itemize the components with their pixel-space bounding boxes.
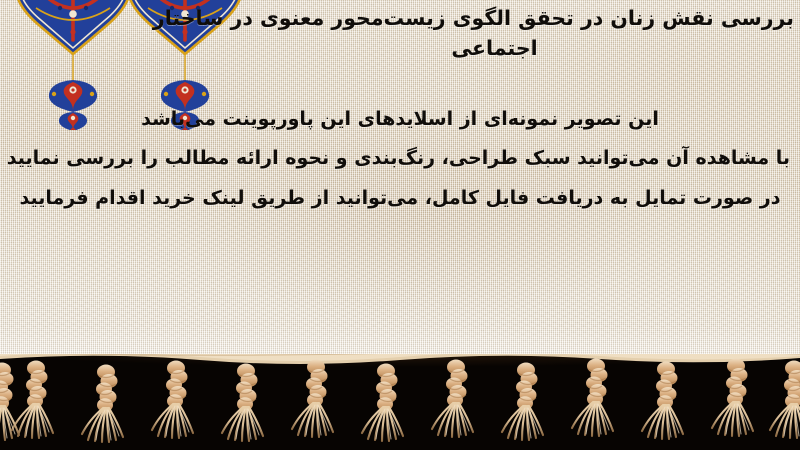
title-line-2: اجتماعی <box>195 34 794 64</box>
title-line-1: بررسی نقش زنان در تحقق الگوی زیست‌محور م… <box>195 4 794 34</box>
body-line-2: با مشاهده آن می‌توانید سبک طراحی، رنگ‌بن… <box>10 149 790 168</box>
slide-title: بررسی نقش زنان در تحقق الگوی زیست‌محور م… <box>195 4 794 63</box>
carpet-fringe-icon <box>0 354 800 450</box>
slide-body: این تصویر نمونه‌ای از اسلایدهای این پاور… <box>10 110 790 208</box>
body-line-1: این تصویر نمونه‌ای از اسلایدهای این پاور… <box>10 110 790 129</box>
body-line-3: در صورت تمایل به دریافت فایل کامل، می‌تو… <box>10 189 790 208</box>
slide-canvas: بررسی نقش زنان در تحقق الگوی زیست‌محور م… <box>0 0 800 450</box>
carpet-fringe <box>0 354 800 450</box>
